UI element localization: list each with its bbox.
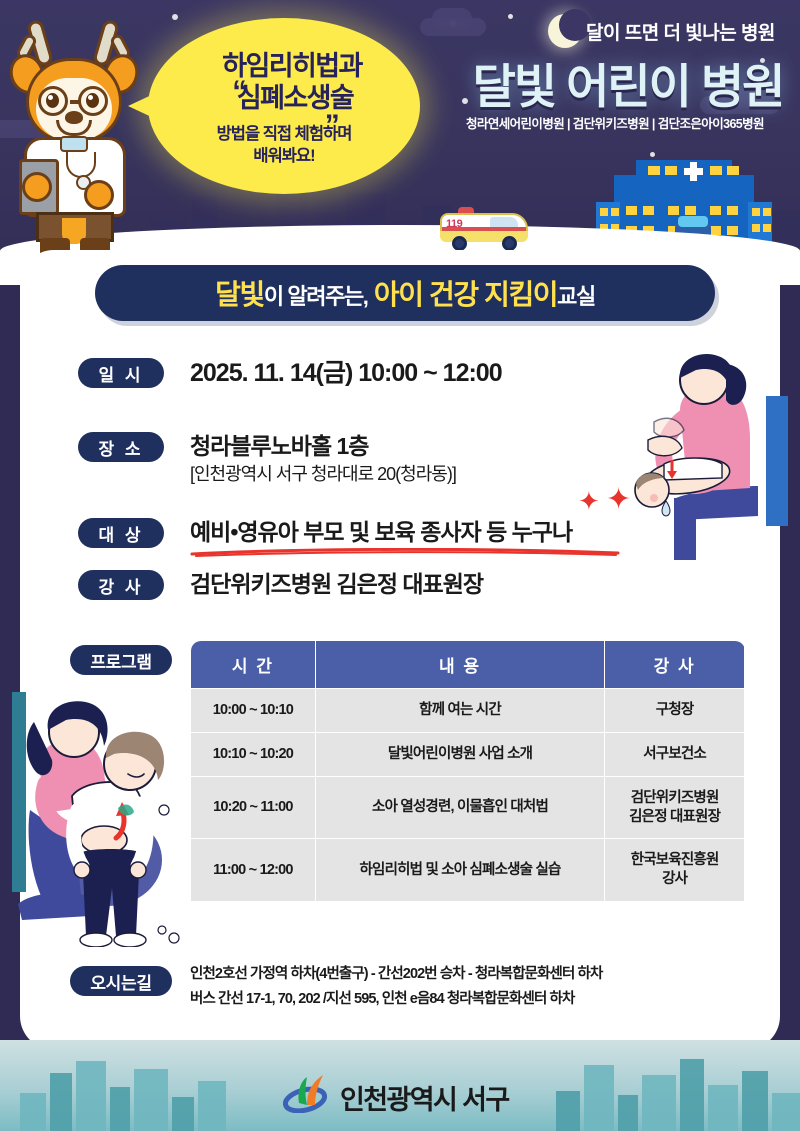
cell-lecturer: 검단위키즈병원 김은정 대표원장 bbox=[605, 776, 745, 839]
banner-part-1: 달빛 bbox=[215, 279, 264, 310]
infant-backblow-illustration bbox=[618, 348, 788, 563]
value-target: 예비•영유아 부모 및 보육 종사자 등 누구나 bbox=[190, 513, 572, 547]
red-star-icon: ✦ bbox=[578, 486, 600, 517]
deer-doctor-mascot bbox=[2, 12, 152, 264]
column-header-lecturer: 강 사 bbox=[605, 641, 745, 689]
hospital-list: 청라연세어린이병원 | 검단위키즈병원 | 검단조은아이365병원 bbox=[440, 113, 790, 132]
cell-content: 소아 열성경련, 이물흡인 대처법 bbox=[315, 776, 604, 839]
red-underline bbox=[190, 548, 620, 557]
poster-root: 달이 뜨면 더 빛나는 병원 달빛 어린이 병원 청라연세어린이병원 | 검단위… bbox=[0, 0, 800, 1131]
cell-content: 하임리히법 및 소아 심폐소생술 실습 bbox=[315, 839, 604, 902]
cloud-icon bbox=[432, 8, 472, 30]
cell-content: 함께 여는 시간 bbox=[315, 689, 604, 733]
label-program: 프로그램 bbox=[70, 645, 172, 675]
header-tagline: 달이 뜨면 더 빛나는 병원 bbox=[586, 18, 786, 45]
label-location: 장 소 bbox=[78, 432, 164, 462]
bubble-line-1: 하임리히법과 bbox=[206, 51, 361, 83]
cell-lecturer: 한국보육진흥원 강사 bbox=[605, 839, 745, 902]
value-datetime: 2025. 11. 14(금) 10:00 ~ 12:00 bbox=[190, 353, 502, 389]
speech-bubble-content: “ 하임리히법과 심폐소생술 ” 방법을 직접 체험하며 배워봐요! bbox=[150, 34, 418, 184]
program-table: 시 간 내 용 강 사 10:00 ~ 10:10 함께 여는 시간 구청장 1… bbox=[190, 640, 745, 902]
cell-time: 10:00 ~ 10:10 bbox=[191, 689, 316, 733]
table-row: 11:00 ~ 12:00 하임리히법 및 소아 심폐소생술 실습 한국보육진흥… bbox=[191, 839, 745, 902]
value-lecturer: 검단위키즈병원 김은정 대표원장 bbox=[190, 565, 483, 599]
table-row: 10:20 ~ 11:00 소아 열성경련, 이물흡인 대처법 검단위키즈병원 … bbox=[191, 776, 745, 839]
cell-time: 11:00 ~ 12:00 bbox=[191, 839, 316, 902]
banner-part-3: 아이 건강 지킴이 bbox=[374, 279, 557, 310]
page-title: 달빛 어린이 병원 bbox=[468, 48, 788, 117]
table-row: 10:10 ~ 10:20 달빛어린이병원 사업 소개 서구보건소 bbox=[191, 732, 745, 776]
column-header-time: 시 간 bbox=[191, 641, 316, 689]
label-directions: 오시는길 bbox=[70, 966, 172, 996]
column-header-content: 내 용 bbox=[315, 641, 604, 689]
directions-text: 인천2호선 가정역 하차(4번출구) - 간선202번 승차 - 청라복합문화센… bbox=[190, 962, 750, 1011]
banner-part-2: 이 알려주는, bbox=[264, 284, 368, 309]
cell-time: 10:10 ~ 10:20 bbox=[191, 732, 316, 776]
directions-line-1: 인천2호선 가정역 하차(4번출구) - 간선202번 승차 - 청라복합문화센… bbox=[190, 962, 750, 987]
child-heimlich-illustration bbox=[12, 692, 187, 947]
table-row: 10:00 ~ 10:10 함께 여는 시간 구청장 bbox=[191, 689, 745, 733]
banner-part-4: 교실 bbox=[557, 284, 595, 309]
cell-content: 달빛어린이병원 사업 소개 bbox=[315, 732, 604, 776]
quote-close-icon: ” bbox=[325, 109, 340, 143]
label-datetime: 일 시 bbox=[78, 358, 164, 388]
table-header-row: 시 간 내 용 강 사 bbox=[191, 641, 745, 689]
label-lecturer: 강 사 bbox=[78, 570, 164, 600]
footer-organization: 인천광역시 서구 bbox=[340, 1078, 509, 1117]
incheon-seogu-swoosh-logo bbox=[283, 1073, 329, 1113]
section-title-banner: 달빛이 알려주는, 아이 건강 지킴이교실 bbox=[95, 265, 715, 321]
value-location-address: [인천광역시 서구 청라대로 20(청라동)] bbox=[190, 460, 456, 486]
cell-lecturer: 구청장 bbox=[605, 689, 745, 733]
star-icon bbox=[508, 14, 513, 19]
directions-line-2: 버스 간선 17-1, 70, 202 /지선 595, 인천 e음84 청라복… bbox=[190, 987, 750, 1012]
quote-open-icon: “ bbox=[232, 75, 247, 109]
bubble-subtext-2: 배워봐요! bbox=[253, 146, 314, 167]
star-icon bbox=[172, 14, 178, 20]
value-location: 청라블루노바홀 1층 bbox=[190, 427, 368, 461]
crescent-moon-icon bbox=[548, 14, 582, 48]
label-target: 대 상 bbox=[78, 518, 164, 548]
ambulance-illustration: 119 bbox=[440, 205, 532, 249]
cell-lecturer: 서구보건소 bbox=[605, 732, 745, 776]
cell-time: 10:20 ~ 11:00 bbox=[191, 776, 316, 839]
